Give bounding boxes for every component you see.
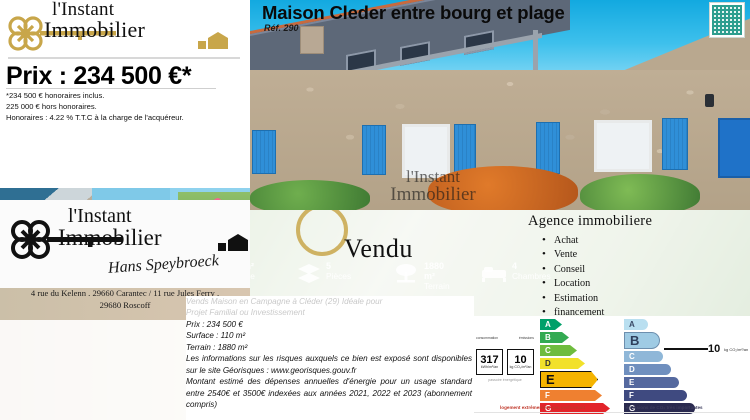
watermark-line1: l'Instant (328, 168, 538, 185)
dpe-class-E-selected: E (540, 371, 598, 388)
wall-lamp-icon (705, 94, 714, 107)
service-item-achat[interactable]: Achat (542, 234, 750, 248)
description-faded-2: Projet Familial ou Investissement (186, 307, 474, 318)
agency-heading: Agence immobiliere (528, 213, 750, 230)
ges-class-E: E (624, 377, 679, 388)
brand-line2: Immobilier (58, 226, 161, 249)
ges-class-D: D (624, 364, 671, 375)
brand-text-bottom: l'Instant Immobilier (58, 206, 161, 249)
description-energy-cost: Montant estimé des dépenses annuelles d'… (186, 376, 474, 410)
shutter (252, 130, 276, 174)
description-price: Prix : 234 500 € (186, 319, 474, 330)
divider-2 (6, 88, 216, 89)
price-note-3: Honoraires : 4.22 % T.T.C à la charge de… (6, 112, 246, 123)
dpe-class-F: F (540, 390, 602, 401)
price-note-1: *234 500 € honoraires inclus. (6, 90, 246, 101)
dpe-class-D: D (540, 358, 585, 369)
dpe-value-box: 317 kWh/m²/an 10 kg CO₂/m²/an (476, 349, 534, 375)
reference-label: Réf. 290 (264, 23, 299, 33)
shrub (580, 174, 700, 210)
house-icon (196, 30, 230, 50)
ges-class-C: C (624, 351, 663, 362)
dpe-ges-unit: kg CO₂/m²/an (510, 366, 532, 370)
description-terrain: Terrain : 1880 m² (186, 342, 474, 353)
ges-class-B-selected: B (624, 332, 660, 349)
dpe-scale-footer: logement extrêmement peu performant (500, 405, 585, 410)
service-item-location[interactable]: Location (542, 277, 750, 291)
agency-services-list: Achat Vente Conseil Location Estimation … (542, 234, 750, 321)
dpe-class-A: A (540, 319, 562, 330)
dpe-class-B: B (540, 332, 569, 343)
shutter (536, 122, 560, 174)
dpe-value-captions: consommation émissions (476, 336, 534, 340)
dpe-energy-value-cell: 317 kWh/m²/an (476, 349, 503, 375)
ges-callout-unit: kg CO₂/m²/an (724, 347, 748, 352)
price-panel: l'Instant Immobilier Prix : 234 500 €* *… (0, 0, 250, 188)
property-photo: l'Instant Immobilier Maison Cleder entre… (250, 0, 750, 210)
dpe-caption-emissions: émissions (519, 336, 534, 340)
price-notes: *234 500 € honoraires inclus. 225 000 € … (6, 90, 246, 123)
description-block: Vends Maison en Campagne à Cléder (29) I… (186, 296, 474, 420)
shutter (662, 118, 688, 170)
description-risks: Les informations sur les risques auxquel… (186, 353, 474, 376)
ges-callout-value: 10 (708, 343, 720, 355)
price-label: Prix : 234 500 €* (6, 62, 191, 91)
service-item-conseil[interactable]: Conseil (542, 263, 750, 277)
ges-scale-footer: émissions de CO₂ très importantes (626, 405, 703, 410)
description-surface: Surface : 110 m² (186, 330, 474, 341)
dpe-energy-chart: consommation émissions 317 kWh/m²/an 10 … (474, 316, 620, 420)
watermark-line2: Immobilier (328, 185, 538, 204)
chimney (300, 26, 324, 54)
window (594, 120, 652, 172)
ges-class-F: F (624, 390, 687, 401)
description-faded-1: Vends Maison en Campagne à Cléder (29) I… (186, 296, 474, 307)
dpe-caption-consumption: consommation (476, 336, 498, 340)
ges-callout-line (664, 348, 708, 350)
dpe-ges-value-cell: 10 kg CO₂/m²/an (507, 349, 534, 375)
qr-code-icon[interactable] (709, 2, 745, 38)
house-icon (216, 232, 250, 252)
service-item-estimation[interactable]: Estimation (542, 292, 750, 306)
ges-chart: A B C D E F G 10 kg CO₂/m²/an émissions … (620, 316, 750, 420)
ges-class-A: A (624, 319, 648, 330)
front-door (718, 118, 750, 178)
brand-line1: l'Instant (68, 206, 161, 226)
brand-logo-top: l'Instant Immobilier (0, 0, 250, 62)
listing-flyer: l'Instant Immobilier Prix : 234 500 €* *… (0, 0, 750, 420)
divider (8, 57, 240, 59)
price-note-2: 225 000 € hors honoraires. (6, 101, 246, 112)
dpe-class-C: C (540, 345, 577, 356)
dpe-passoire-note: passoire énergétique (476, 378, 534, 382)
energy-diagnostics: consommation émissions 317 kWh/m²/an 10 … (474, 316, 750, 420)
page-title: Maison Cleder entre bourg et plage (262, 2, 565, 24)
service-item-vente[interactable]: Vente (542, 248, 750, 262)
photo-watermark: l'Instant Immobilier (328, 168, 538, 205)
dpe-energy-unit: kWh/m²/an (481, 366, 498, 370)
